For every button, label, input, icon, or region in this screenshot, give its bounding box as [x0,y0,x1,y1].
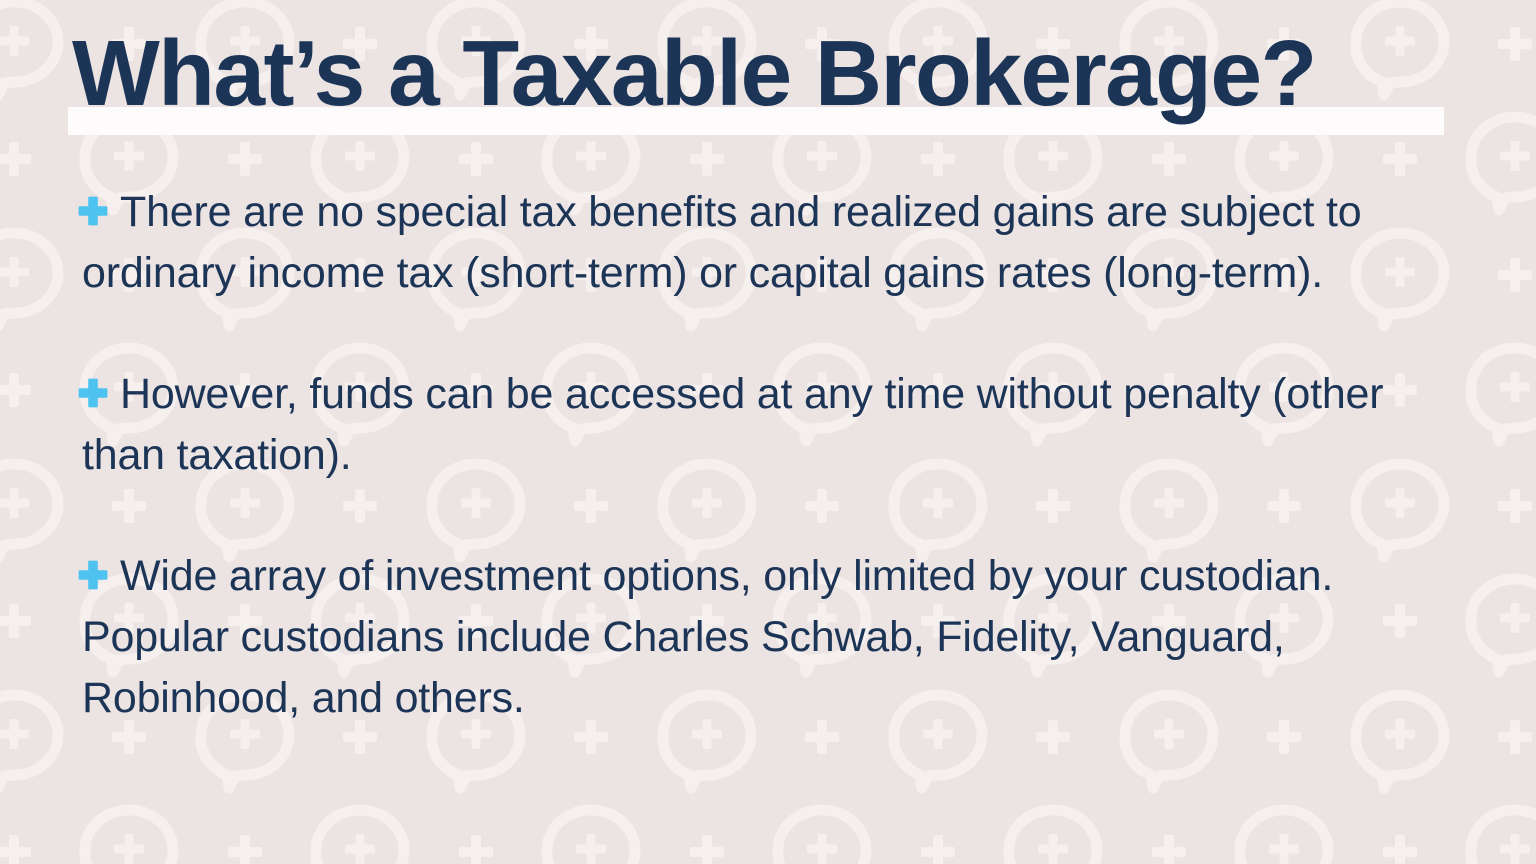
list-item-text: However, funds can be accessed at any ti… [82,364,1446,486]
page-title: What’s a Taxable Brokerage? [72,17,1472,129]
plus-icon [78,378,108,408]
bullet-list: There are no special tax benefits and re… [0,182,1536,729]
plus-icon [78,560,108,590]
title-block: What’s a Taxable Brokerage? [0,0,1536,150]
list-item: However, funds can be accessed at any ti… [0,364,1536,486]
plus-icon [78,196,108,226]
list-item: There are no special tax benefits and re… [0,182,1536,304]
list-item-text: There are no special tax benefits and re… [82,182,1446,304]
list-item-text: Wide array of investment options, only l… [82,546,1446,729]
slide-root: What’s a Taxable Brokerage? There are no… [0,0,1536,864]
list-item: Wide array of investment options, only l… [0,546,1536,729]
